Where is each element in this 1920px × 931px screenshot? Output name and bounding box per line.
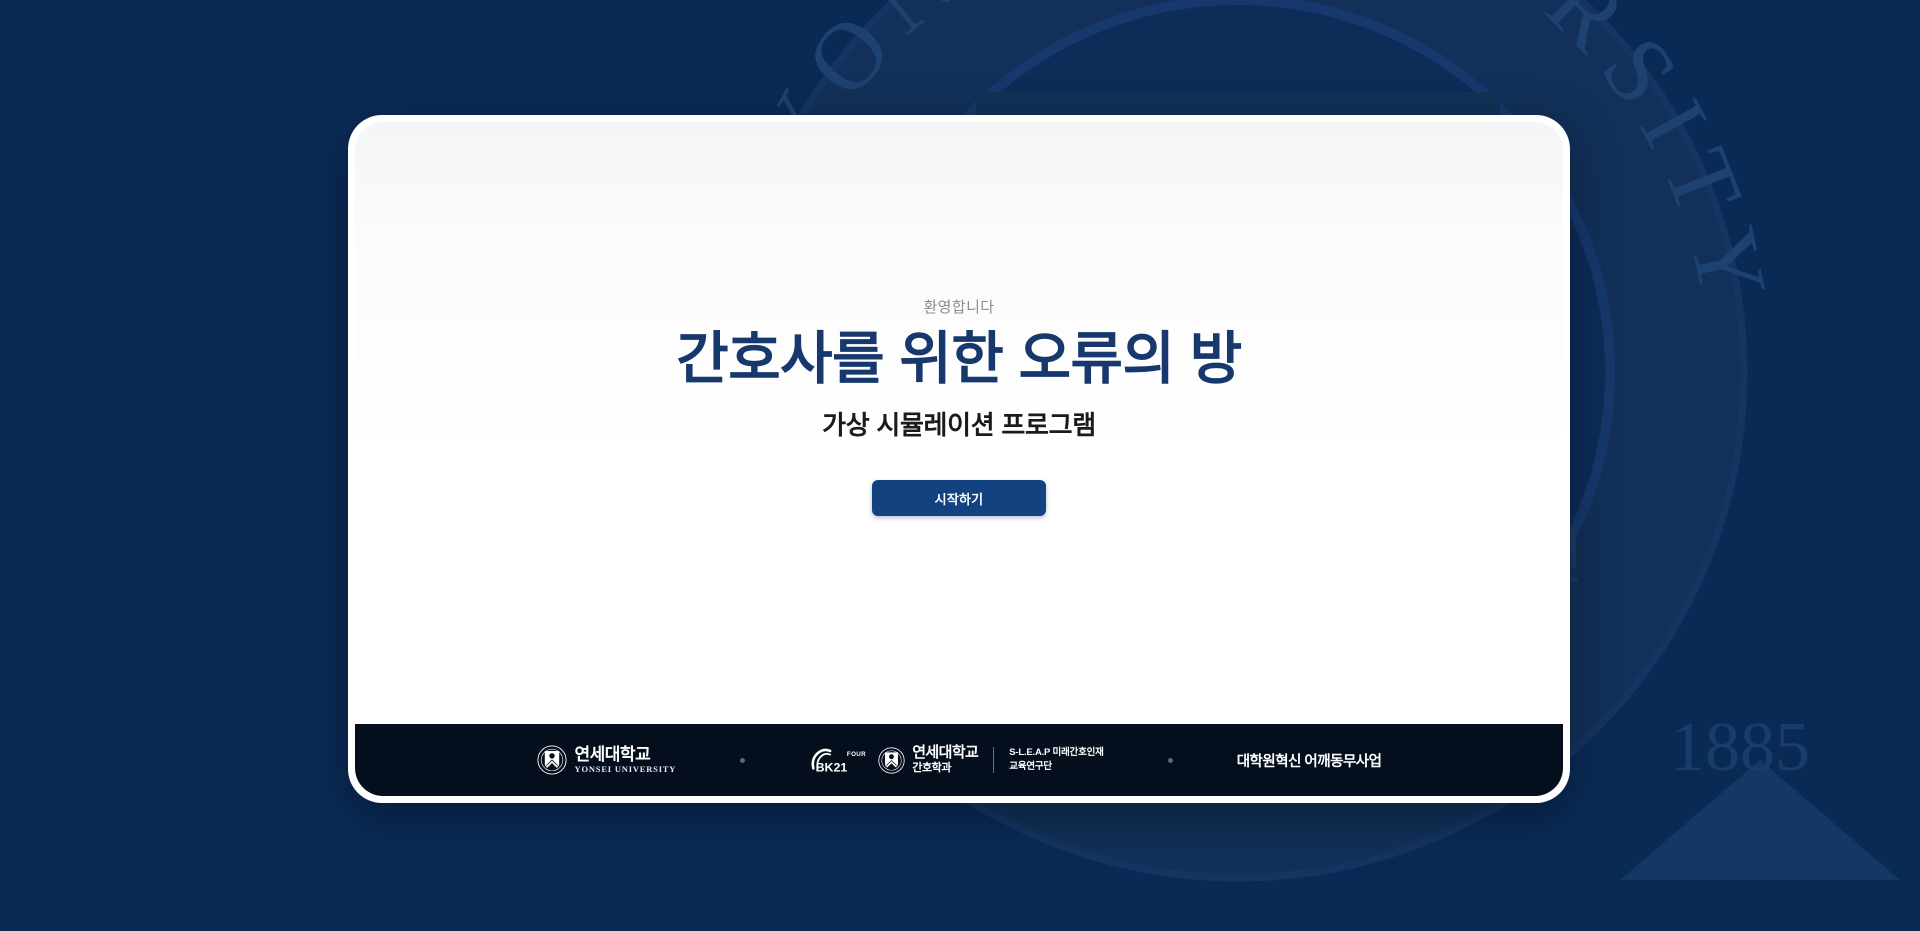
svg-text:FOUR: FOUR [847, 751, 866, 758]
start-button[interactable]: 시작하기 [872, 480, 1046, 516]
sleap-line-1: S-L.E.A.P 미래간호인재 [1009, 746, 1103, 760]
sleap-line-2: 교육연구단 [1009, 760, 1103, 774]
yonsei-nursing-seal-icon [878, 747, 905, 774]
yonsei-seal-icon [537, 745, 567, 775]
nursing-department: 간호학과 [912, 762, 978, 775]
footer-bk21-logo: BK21 FOUR 연세대학교 간호학과 [809, 745, 1103, 775]
footer-yonsei-logo: 연세대학교 YONSEI UNIVERSITY [537, 745, 677, 775]
footer-separator-dot-2 [1168, 758, 1173, 763]
hero-section: 환영합니다 간호사를 위한 오류의 방 가상 시뮬레이션 프로그램 시작하기 [355, 122, 1563, 724]
welcome-eyebrow: 환영합니다 [923, 296, 994, 317]
bk21-four-icon: BK21 FOUR [809, 745, 871, 775]
yonsei-korean-name: 연세대학교 [575, 746, 677, 764]
svg-text:1885: 1885 [1670, 709, 1810, 786]
device-screen: YONSEI UNIVERSITY 1885 세 대 학 교 연 환영합니다 간… [355, 122, 1563, 796]
footer-program-name: 대학원혁신 어깨동무사업 [1237, 750, 1382, 771]
footer-separator-dot-1 [740, 758, 745, 763]
footer-bar: 연세대학교 YONSEI UNIVERSITY BK21 FOUR [355, 724, 1563, 796]
device-frame: YONSEI UNIVERSITY 1885 세 대 학 교 연 환영합니다 간… [348, 115, 1570, 803]
yonsei-english-name: YONSEI UNIVERSITY [575, 764, 677, 774]
nursing-korean-name: 연세대학교 [912, 745, 978, 762]
page-subtitle: 가상 시뮬레이션 프로그램 [822, 405, 1096, 442]
svg-text:BK21: BK21 [816, 760, 848, 774]
sleap-divider [993, 747, 994, 773]
page-title: 간호사를 위한 오류의 방 [676, 328, 1241, 392]
